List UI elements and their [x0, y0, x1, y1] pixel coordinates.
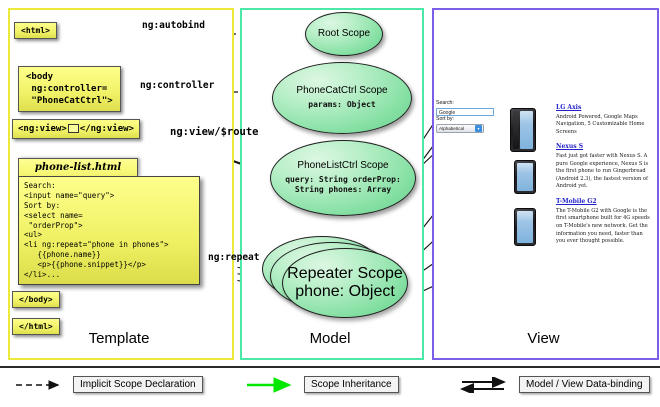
sort-label: Sort by: — [436, 116, 500, 124]
scope-repeater-stack: Repeater Scope phone: Object — [262, 232, 414, 322]
phone-thumbnail-nexus-s — [514, 160, 536, 194]
list-item: T-Mobile G2 The T-Mobile G2 with Google … — [556, 198, 650, 246]
search-label: Search: — [436, 100, 500, 108]
architecture-diagram: Template Model View <html> <body ng:cont… — [0, 0, 660, 405]
sort-select[interactable]: Alphabetical ▾ — [436, 124, 484, 133]
list-item: LG Axis Android Powered, Google Maps Nav… — [556, 104, 650, 136]
scope-repeater: Repeater Scope phone: Object — [282, 248, 408, 318]
sort-select-value: Alphabetical — [439, 126, 464, 131]
legend-item-scope-inheritance: Scope Inheritance — [245, 376, 399, 393]
scope-phonelistctrl-name: PhoneListCtrl Scope — [297, 160, 388, 172]
edge-label-ngview-route: ng:view/$route — [170, 126, 259, 138]
scope-root: Root Scope — [305, 12, 383, 56]
panel-label-model: Model — [240, 330, 420, 347]
phone-snippet: Android Powered, Google Maps Navigation,… — [556, 114, 650, 137]
ngview-tag: <ng:view></ng:view> — [12, 119, 140, 139]
scope-root-name: Root Scope — [318, 28, 370, 40]
chevron-down-icon: ▾ — [475, 125, 482, 132]
scope-phonecatctrl-name: PhoneCatCtrl Scope — [296, 85, 387, 97]
html-open-tag: <html> — [14, 22, 57, 39]
body-open-tag: <body ng:controller= "PhoneCatCtrl"> — [18, 66, 121, 112]
phone-thumbnail-t-mobile-g2 — [514, 208, 536, 246]
double-arrow-icon — [460, 377, 512, 393]
scope-phonecatctrl-props: params: Object — [308, 100, 375, 110]
legend-label-data-binding: Model / View Data-binding — [519, 376, 650, 393]
edge-label-ngrepeat: ng:repeat — [208, 252, 259, 263]
list-item: Nexus S Fast just got faster with Nexus … — [556, 143, 650, 191]
view-search-form: Search: Google Sort by: Alphabetical ▾ — [436, 100, 500, 133]
phone-list-html-note: phone-list.html Search: <input name="que… — [18, 158, 200, 285]
scope-phonecatctrl: PhoneCatCtrl Scope params: Object — [272, 62, 412, 134]
phone-link[interactable]: LG Axis — [556, 104, 650, 111]
html-close-tag: </html> — [12, 318, 60, 335]
note-tab: phone-list.html — [18, 158, 138, 176]
phone-snippet: Fast just got faster with Nexus S. A pur… — [556, 153, 650, 191]
phone-snippet: The T-Mobile G2 with Google is the first… — [556, 208, 650, 246]
edge-label-autobind: ng:autobind — [142, 20, 205, 31]
phone-thumbnail-lg-axis — [510, 108, 536, 152]
scope-phonelistctrl: PhoneListCtrl Scope query: String orderP… — [270, 140, 416, 216]
ngview-placeholder-icon — [68, 124, 79, 133]
legend-item-implicit-scope: Implicit Scope Declaration — [14, 376, 203, 393]
panel-label-view: View — [432, 330, 655, 347]
legend-label-implicit-scope: Implicit Scope Declaration — [73, 376, 203, 393]
legend-label-scope-inheritance: Scope Inheritance — [304, 376, 399, 393]
ngview-close-label: </ng:view> — [80, 124, 134, 134]
phone-listings: LG Axis Android Powered, Google Maps Nav… — [556, 104, 650, 253]
green-arrow-icon — [245, 377, 297, 393]
edge-label-controller: ng:controller — [140, 80, 214, 91]
search-input[interactable]: Google — [436, 108, 494, 116]
scope-repeater-name: Repeater Scope — [287, 265, 403, 283]
dashed-arrow-icon — [14, 377, 66, 393]
scope-phonelistctrl-props: query: String orderProp: String phones: … — [271, 175, 415, 196]
note-code-body: Search: <input name="query"> Sort by: <s… — [18, 176, 200, 285]
legend: Implicit Scope Declaration Scope Inherit… — [0, 366, 660, 407]
ngview-open-label: <ng:view> — [18, 124, 67, 134]
legend-item-data-binding: Model / View Data-binding — [460, 376, 650, 393]
phone-link[interactable]: T-Mobile G2 — [556, 198, 650, 205]
phone-link[interactable]: Nexus S — [556, 143, 650, 150]
body-close-tag: </body> — [12, 291, 60, 308]
note-title: phone-list.html — [25, 162, 131, 173]
scope-repeater-props: phone: Object — [295, 283, 395, 301]
